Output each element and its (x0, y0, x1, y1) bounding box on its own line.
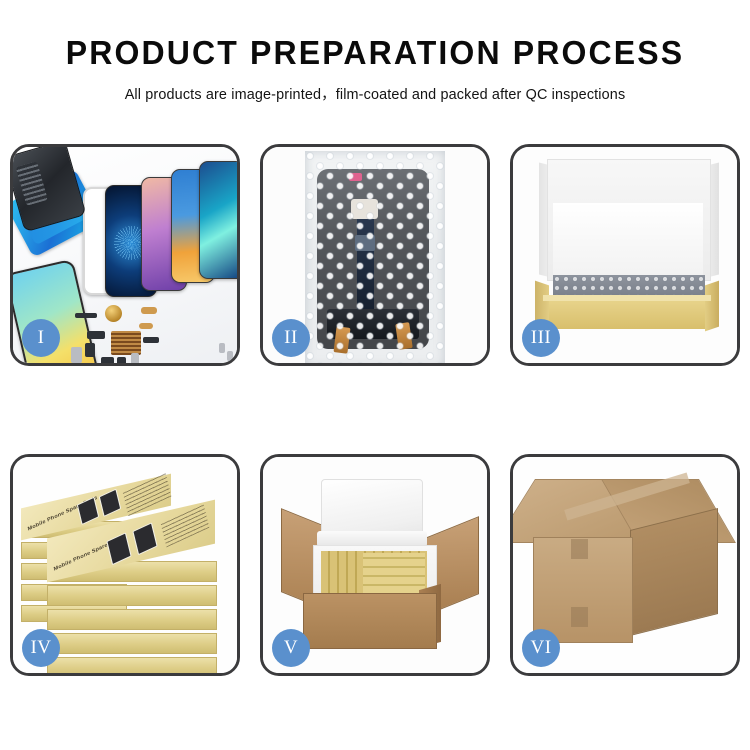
box-print-text-lines-back (123, 472, 172, 516)
spare-part-connector (85, 343, 95, 357)
step-3-image: III (513, 147, 737, 363)
process-step-panel-6: VI (510, 454, 740, 676)
box-tray-right-wall (705, 281, 719, 332)
spare-part-flex-cable-2 (139, 323, 153, 329)
spare-part-tool (71, 347, 82, 363)
spare-part-sim-tray (131, 353, 139, 363)
step-6-image: VI (513, 457, 737, 673)
kraft-box-front-side-4 (47, 633, 217, 654)
step-badge-1: I (22, 319, 60, 357)
carton-seal-mark-bottom (571, 607, 588, 627)
step-badge-3: III (522, 319, 560, 357)
process-step-panel-5: V (260, 454, 490, 676)
step-1-image: I (13, 147, 237, 363)
box-print-phone-4 (132, 522, 157, 555)
box-print-text-lines-front (161, 504, 210, 548)
process-step-panel-4: Mobile Phone Spare Parts Mobile Phone Sp… (10, 454, 240, 676)
spare-part-screw-2 (227, 351, 233, 361)
box-print-phone-2 (99, 489, 121, 517)
spare-part-screw-1 (219, 343, 225, 353)
spare-part-vibrator (117, 357, 126, 363)
kraft-box-front-side-2 (47, 585, 217, 606)
page-header: PRODUCT PREPARATION PROCESS All products… (0, 0, 750, 104)
kraft-box-front-side-3 (47, 609, 217, 630)
gold-boxes-stacked-right (363, 553, 425, 593)
box-tray-rim (543, 295, 711, 301)
spare-part-speaker-mesh (111, 331, 141, 355)
kraft-box-front-side-5 (47, 657, 217, 673)
process-step-panel-3: III (510, 144, 740, 366)
carton-front-panel (303, 593, 437, 649)
process-step-panel-1: I (10, 144, 240, 366)
step-badge-6: VI (522, 629, 560, 667)
step-badge-5: V (272, 629, 310, 667)
bubble-wrap-bag (305, 151, 445, 363)
spare-part-antenna (143, 337, 159, 343)
process-steps-grid: I II (10, 144, 740, 676)
step-badge-2: II (272, 319, 310, 357)
box-lid-inner-panel (553, 203, 703, 277)
spare-part-coin-module (105, 305, 122, 322)
carton-right-face (630, 508, 718, 636)
spare-part-camera-module (87, 331, 105, 339)
step-4-image: Mobile Phone Spare Parts Mobile Phone Sp… (13, 457, 237, 673)
spare-part-flex-cable-1 (141, 307, 157, 314)
box-print-phone-3 (106, 532, 131, 565)
process-step-panel-2: II (260, 144, 490, 366)
spare-part-strip (75, 313, 97, 318)
step-5-image: V (263, 457, 487, 673)
bubble-texture (305, 151, 445, 363)
page-title: PRODUCT PREPARATION PROCESS (11, 0, 739, 72)
carton-seal-mark-top (571, 539, 588, 559)
step-2-image: II (263, 147, 487, 363)
phone-screen-teal-wave (199, 161, 237, 279)
page-subtitle: All products are image-printed，film-coat… (0, 72, 750, 104)
spare-part-button (101, 357, 114, 363)
box-tray-front-wall (543, 299, 711, 329)
step-badge-4: IV (22, 629, 60, 667)
